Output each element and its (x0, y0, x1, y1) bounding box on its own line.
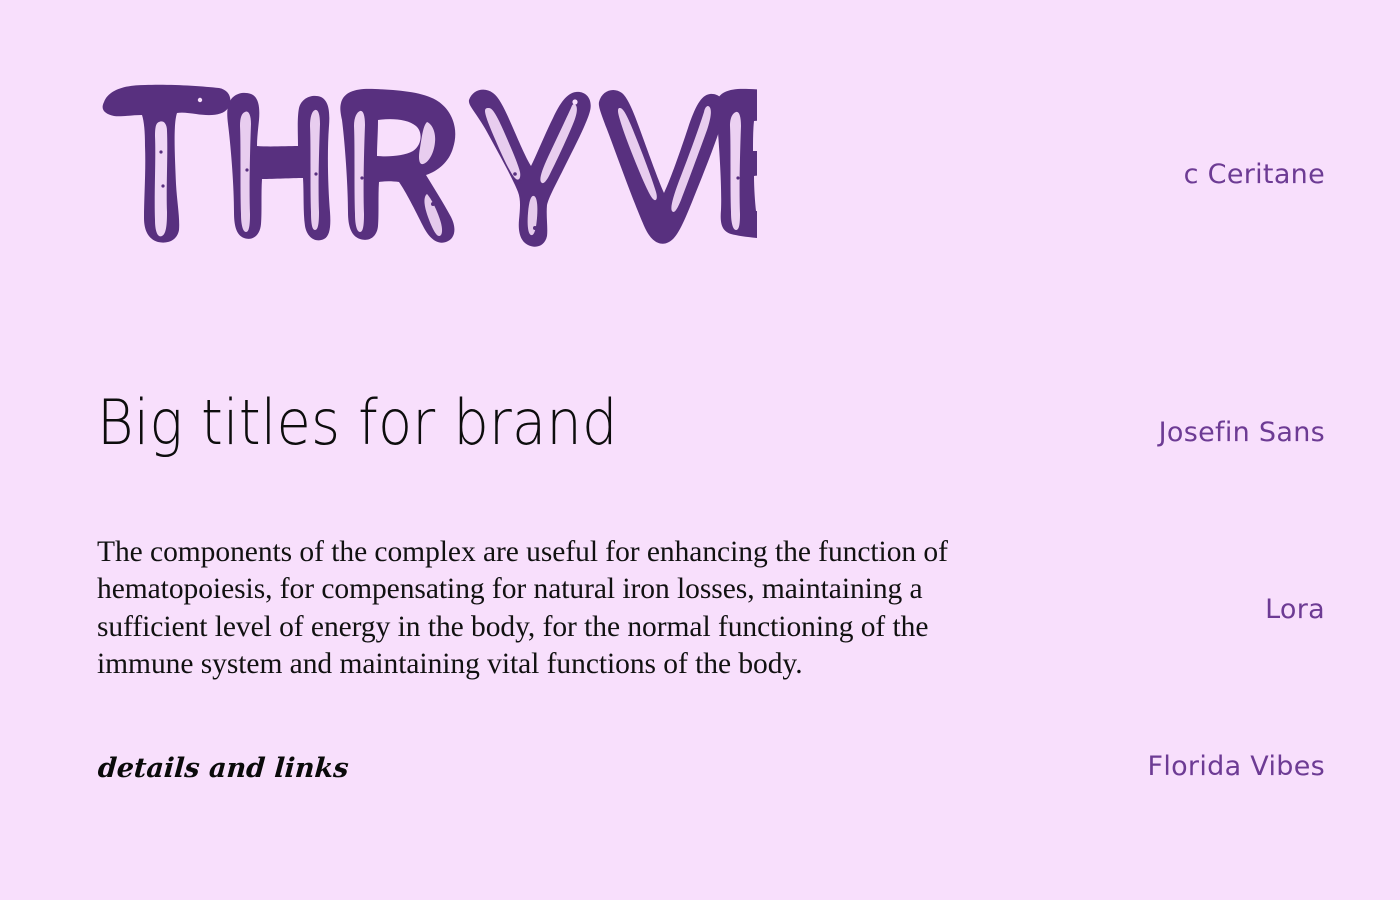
font-label-accent: Florida Vibes (1147, 753, 1325, 780)
font-label-logo: c Ceritane (1184, 161, 1325, 188)
font-label-heading: Josefin Sans (1159, 419, 1325, 446)
heading-specimen: Big titles for brand (97, 392, 618, 454)
font-label-column: c Ceritane Josefin Sans Lora Florida Vib… (905, 0, 1325, 900)
paragraph-specimen: The components of the complex are useful… (97, 534, 1002, 684)
font-label-body: Lora (1265, 596, 1325, 623)
brand-typography-board: THRYVE (0, 0, 1400, 900)
brand-wordmark-thryve: THRYVE (97, 78, 757, 254)
accent-specimen: details and links (97, 755, 349, 782)
